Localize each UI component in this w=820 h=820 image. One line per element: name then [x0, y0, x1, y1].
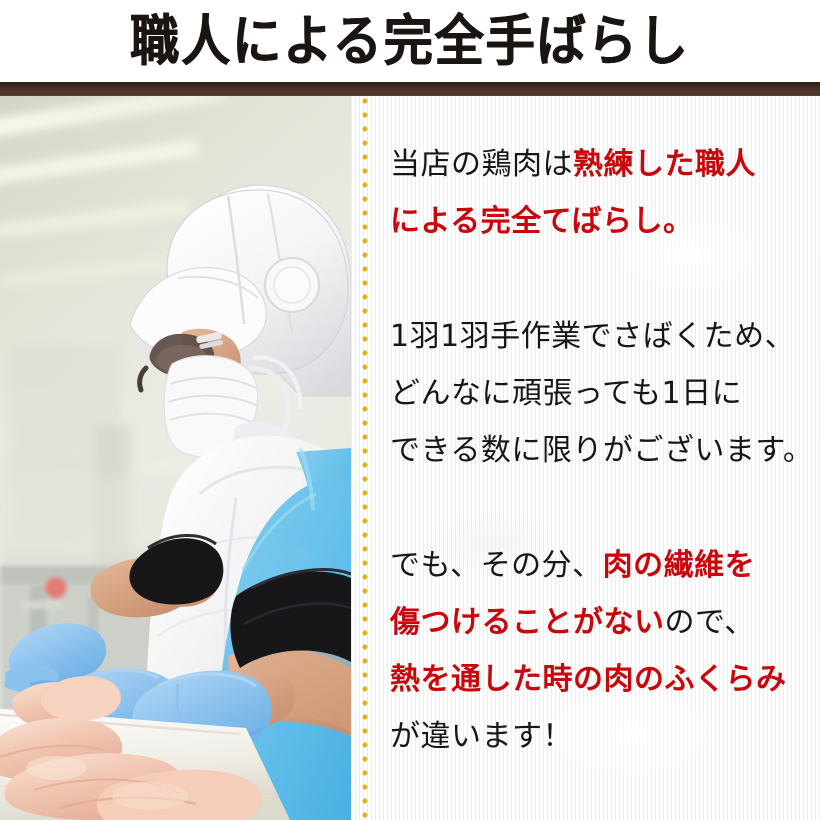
- body-text: でも、その分、: [390, 548, 603, 583]
- gold-dotted-divider: [362, 98, 368, 818]
- copy-line: できる数に限りがございます。: [390, 422, 810, 479]
- emphasis-text: による完全てばらし。: [390, 204, 694, 239]
- emphasis-text: 傷つけることがない: [390, 605, 665, 640]
- promo-banner: 職人による完全手ばらし: [0, 0, 820, 820]
- body-text: どんなに頑張っても1日に: [390, 376, 742, 411]
- copy-line: でも、その分、肉の繊維を: [390, 537, 810, 594]
- body-text: ので、: [665, 605, 755, 640]
- brown-divider-bar: [0, 82, 820, 96]
- header-band: 職人による完全手ばらし: [0, 0, 820, 82]
- page-title: 職人による完全手ばらし: [130, 14, 690, 69]
- body-text: 当店の鶏肉は: [390, 147, 573, 182]
- photo-illustration: [0, 96, 351, 820]
- copy-panel: 当店の鶏肉は熟練した職人による完全てばらし。 1羽1羽手作業でさばくため、どんな…: [351, 96, 820, 820]
- body-text: できる数に限りがございます。: [390, 433, 813, 468]
- emphasis-text: 熟練した職人: [573, 147, 756, 182]
- body-text: 1羽1羽手作業でさばくため、: [390, 319, 795, 354]
- copy-line: どんなに頑張っても1日に: [390, 365, 810, 422]
- copy-line: による完全てばらし。: [390, 193, 810, 250]
- copy-line: 熱を通した時の肉のふくらみ: [390, 651, 810, 708]
- body-text: が違います！: [390, 719, 573, 754]
- craftsman-photo: [0, 96, 351, 820]
- emphasis-text: 肉の繊維を: [603, 548, 756, 583]
- copy-line: 1羽1羽手作業でさばくため、: [390, 308, 810, 365]
- paragraph-3: でも、その分、肉の繊維を傷つけることがないので、熱を通した時の肉のふくらみが違い…: [390, 537, 810, 765]
- copy-line: 当店の鶏肉は熟練した職人: [390, 136, 810, 193]
- copy-line: が違います！: [390, 708, 810, 765]
- paragraph-2: 1羽1羽手作業でさばくため、どんなに頑張っても1日にできる数に限りがございます。: [390, 308, 810, 479]
- emphasis-text: 熱を通した時の肉のふくらみ: [390, 662, 787, 697]
- paragraph-1: 当店の鶏肉は熟練した職人による完全てばらし。: [390, 136, 810, 250]
- copy-line: 傷つけることがないので、: [390, 594, 810, 651]
